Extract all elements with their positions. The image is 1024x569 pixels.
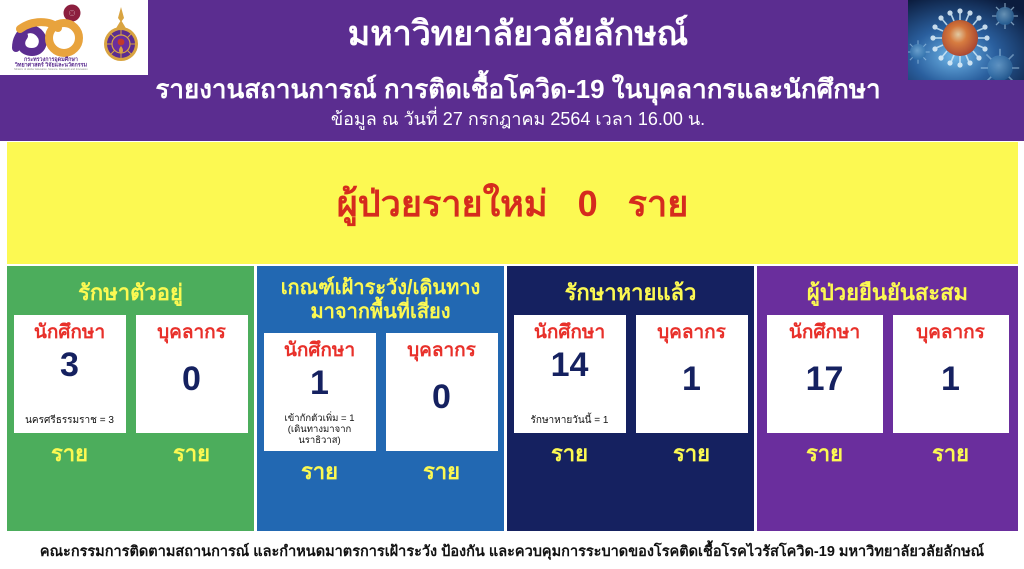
panel-currently-treated: รักษาตัวอยู่ นักศึกษา 3 นครศรีธรรมราช = …	[7, 266, 257, 531]
metric-value-staff: 0	[182, 359, 201, 399]
metric-box-staff: บุคลากร 1	[893, 315, 1009, 433]
metric-box-staff: บุคลากร 0	[136, 315, 248, 433]
metric-group-cumulative: นักศึกษา 17 ราย บุคลากร 1 ราย	[767, 315, 1009, 467]
metric-unit-staff: ราย	[673, 441, 710, 467]
metric-staff: บุคลากร 1 ราย	[636, 315, 748, 467]
covid-report-page: กระทรวงการอุดมศึกษา วิทยาศาสตร์ วิจัยและ…	[0, 0, 1024, 569]
metric-note-students: รักษาหายวันนี้ = 1	[514, 415, 626, 427]
metric-value-students: 17	[806, 359, 844, 399]
metric-category-staff: บุคลากร	[657, 321, 726, 345]
metric-students: นักศึกษา 1 เข้ากักตัวเพิ่ม = 1 (เดินทางม…	[264, 333, 376, 485]
metric-note-students: นครศรีธรรมราช = 3	[14, 415, 126, 427]
metric-category-staff: บุคลากร	[916, 321, 985, 345]
metric-category-students: นักศึกษา	[789, 321, 860, 345]
panel-title-currently-treated: รักษาตัวอยู่	[14, 280, 246, 306]
panel-surveillance-risk-area: เกณฑ์เฝ้าระวัง/เดินทาง มาจากพื้นที่เสี่ย…	[257, 266, 507, 531]
logo-block: กระทรวงการอุดมศึกษา วิทยาศาสตร์ วิจัยและ…	[0, 0, 148, 75]
new-cases-value: 0	[578, 183, 598, 225]
metric-group-currently-treated: นักศึกษา 3 นครศรีธรรมราช = 3 ราย บุคลากร…	[14, 315, 248, 467]
panel-title-cumulative-confirmed: ผู้ป่วยยืนยันสะสม	[765, 280, 1010, 306]
panel-recovered: รักษาหายแล้ว นักศึกษา 14 รักษาหายวันนี้ …	[507, 266, 757, 531]
metric-unit-staff: ราย	[173, 441, 210, 467]
metric-note-line2: (เดินทางมาจาก	[264, 424, 376, 435]
page-footer: คณะกรรมการติดตามสถานการณ์ และกำหนดมาตรกา…	[0, 534, 1024, 569]
metric-group-surveillance: นักศึกษา 1 เข้ากักตัวเพิ่ม = 1 (เดินทางม…	[264, 333, 498, 485]
metric-staff: บุคลากร 0 ราย	[386, 333, 498, 485]
metric-value-students: 3	[60, 345, 79, 385]
panel-title-line1: เกณฑ์เฝ้าระวัง/เดินทาง	[264, 276, 496, 300]
metric-box-students: นักศึกษา 1 เข้ากักตัวเพิ่ม = 1 (เดินทางม…	[264, 333, 376, 451]
metric-note-students: เข้ากักตัวเพิ่ม = 1 (เดินทางมาจาก นราธิว…	[264, 413, 376, 446]
metric-value-staff: 0	[432, 377, 451, 417]
metric-unit-students: ราย	[551, 441, 588, 467]
metric-category-staff: บุคลากร	[157, 321, 226, 345]
metric-value-staff: 1	[941, 359, 960, 399]
ministry-of-higher-education-science-research-innovation-logo: กระทรวงการอุดมศึกษา วิทยาศาสตร์ วิจัยและ…	[6, 4, 96, 70]
data-timestamp: ข้อมูล ณ วันที่ 27 กรกฎาคม 2564 เวลา 16.…	[78, 108, 958, 130]
metric-box-staff: บุคลากร 0	[386, 333, 498, 451]
metric-note-line1: เข้ากักตัวเพิ่ม = 1	[264, 413, 376, 424]
panel-title-surveillance-risk-area: เกณฑ์เฝ้าระวัง/เดินทาง มาจากพื้นที่เสี่ย…	[264, 276, 496, 324]
metric-box-students: นักศึกษา 14 รักษาหายวันนี้ = 1	[514, 315, 626, 433]
walailak-university-seal	[100, 6, 142, 66]
new-cases-label: ผู้ป่วยรายใหม่	[337, 175, 548, 232]
metric-staff: บุคลากร 1 ราย	[893, 315, 1009, 467]
metric-unit-staff: ราย	[423, 459, 460, 485]
metric-students: นักศึกษา 14 รักษาหายวันนี้ = 1 ราย	[514, 315, 626, 467]
metric-value-students: 14	[551, 345, 589, 385]
metric-box-students: นักศึกษา 3 นครศรีธรรมราช = 3	[14, 315, 126, 433]
new-cases-unit: ราย	[628, 175, 689, 232]
metric-category-students: นักศึกษา	[284, 339, 355, 363]
metric-staff: บุคลากร 0 ราย	[136, 315, 248, 467]
svg-text:Ministry of Higher Education,: Ministry of Higher Education, Science, R…	[14, 67, 88, 70]
metric-unit-students: ราย	[301, 459, 338, 485]
panel-title-recovered: รักษาหายแล้ว	[514, 280, 746, 306]
metric-value-staff: 1	[682, 359, 701, 399]
metric-category-staff: บุคลากร	[407, 339, 476, 363]
metric-students: นักศึกษา 17 ราย	[767, 315, 883, 467]
metric-note-line3: นราธิวาส)	[264, 435, 376, 446]
metric-category-students: นักศึกษา	[34, 321, 105, 345]
metric-unit-staff: ราย	[932, 441, 969, 467]
metric-value-students: 1	[310, 363, 329, 403]
metric-box-staff: บุคลากร 1	[636, 315, 748, 433]
metric-box-students: นักศึกษา 17	[767, 315, 883, 433]
footer-text: คณะกรรมการติดตามสถานการณ์ และกำหนดมาตรกา…	[40, 540, 984, 563]
metric-category-students: นักศึกษา	[534, 321, 605, 345]
panel-title-line2: มาจากพื้นที่เสี่ยง	[264, 300, 496, 324]
report-subtitle: รายงานสถานการณ์ การติดเชื้อโควิด-19 ในบุ…	[78, 74, 958, 104]
metric-unit-students: ราย	[806, 441, 843, 467]
page-title: มหาวิทยาลัยวลัยลักษณ์	[148, 14, 888, 54]
statistics-panels: รักษาตัวอยู่ นักศึกษา 3 นครศรีธรรมราช = …	[7, 266, 1018, 531]
metric-unit-students: ราย	[51, 441, 88, 467]
panel-cumulative-confirmed: ผู้ป่วยยืนยันสะสม นักศึกษา 17 ราย บุคลาก…	[757, 266, 1018, 531]
metric-students: นักศึกษา 3 นครศรีธรรมราช = 3 ราย	[14, 315, 126, 467]
page-header: กระทรวงการอุดมศึกษา วิทยาศาสตร์ วิจัยและ…	[0, 0, 1024, 141]
coronavirus-microscopy-image	[908, 0, 1024, 80]
metric-group-recovered: นักศึกษา 14 รักษาหายวันนี้ = 1 ราย บุคลา…	[514, 315, 748, 467]
new-cases-banner: ผู้ป่วยรายใหม่ 0 ราย	[7, 142, 1018, 264]
